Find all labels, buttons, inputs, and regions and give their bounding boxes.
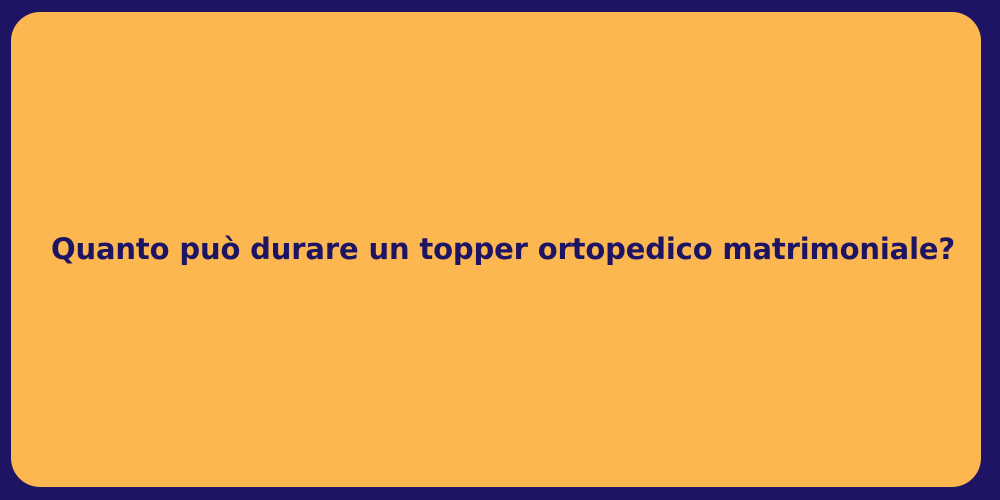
question-title: Quanto può durare un topper ortopedico m…	[11, 231, 981, 267]
question-card-panel: Quanto può durare un topper ortopedico m…	[11, 12, 981, 487]
question-card-frame: Quanto può durare un topper ortopedico m…	[0, 0, 1000, 500]
